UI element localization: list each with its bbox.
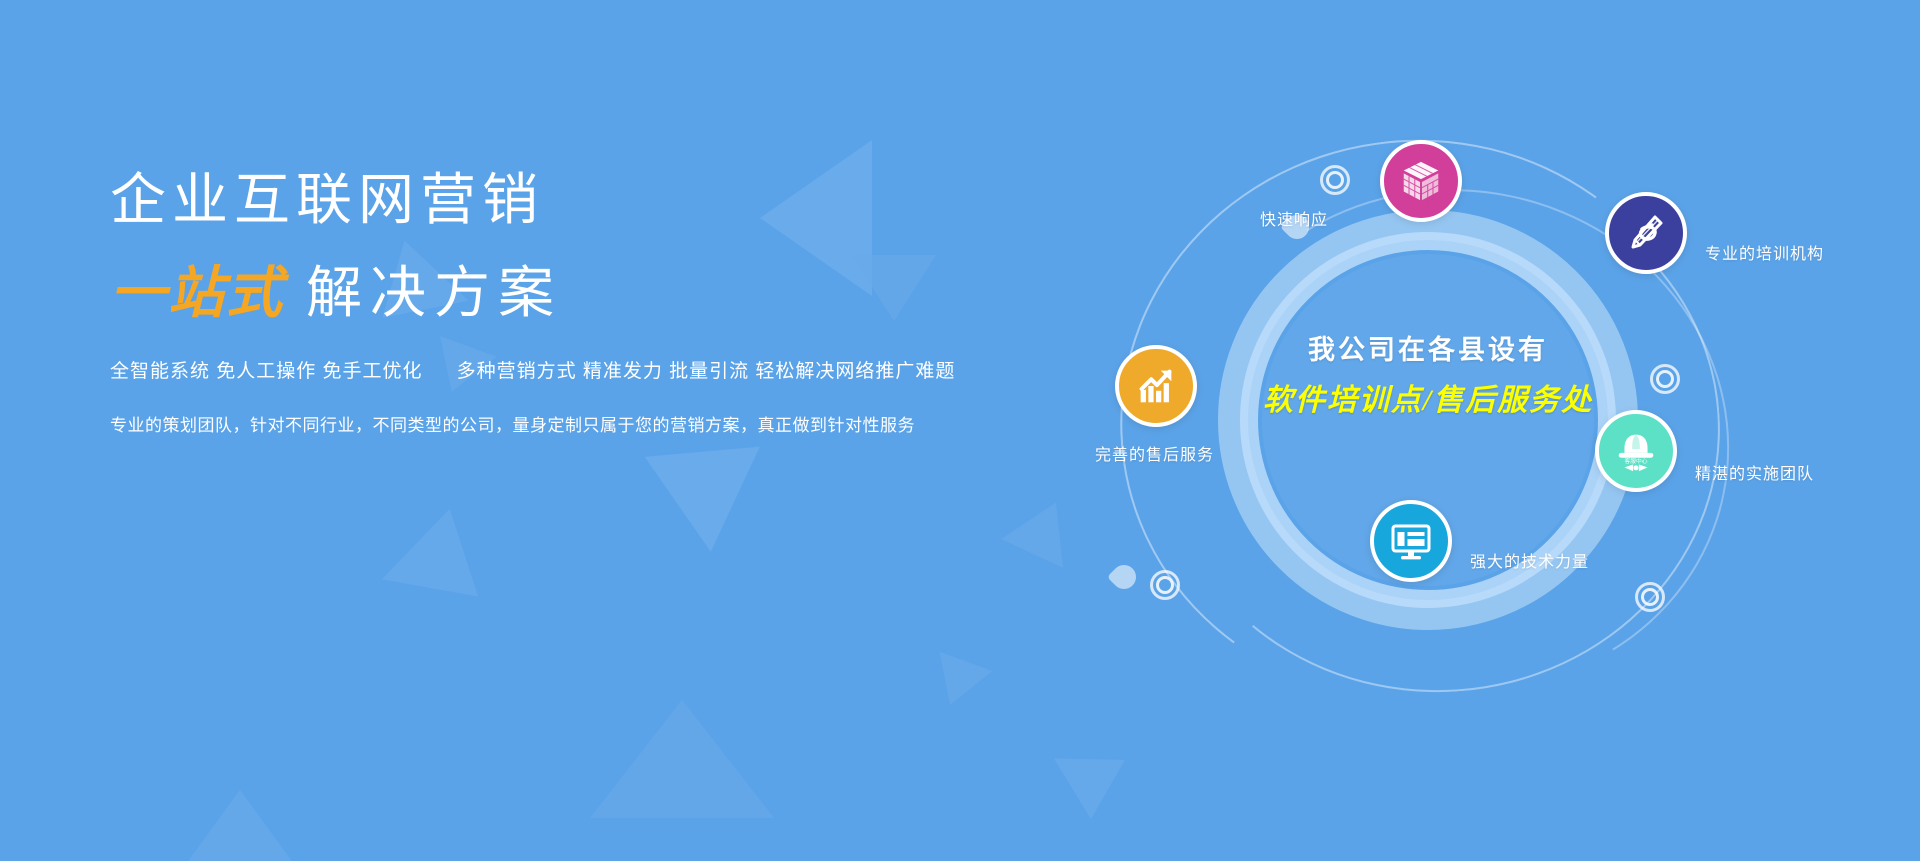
hat-icon-caption: 客服中心 (1625, 457, 1648, 465)
cube-icon (1380, 140, 1462, 222)
map-pin-icon (1107, 560, 1141, 594)
decorative-triangle (170, 790, 310, 861)
diagram-node-chart-label: 完善的售后服务 (1095, 441, 1214, 465)
target-ripple-icon (1150, 570, 1180, 600)
diagram-node-hat-label: 精湛的实施团队 (1695, 460, 1814, 484)
target-ripple-icon (1320, 165, 1350, 195)
headline-secondary: 一站式解决方案 (110, 259, 890, 326)
subtitle-line-two: 专业的策划团队，针对不同行业，不同类型的公司，量身定制只属于您的营销方案，真正做… (110, 411, 890, 436)
decorative-triangle (368, 509, 478, 623)
decorative-triangle (924, 652, 992, 714)
target-ripple-icon (1650, 364, 1680, 394)
hat-icon: 客服中心 (1595, 410, 1677, 492)
circle-center-text: 我公司在各县设有 软件培训点/售后服务处 (1262, 328, 1594, 419)
headline-accent-text: 一站式 (110, 261, 284, 324)
monitor-icon (1370, 500, 1452, 582)
service-circle-diagram: 我公司在各县设有 软件培训点/售后服务处 (1040, 110, 1900, 750)
headline-primary: 企业互联网营销 (110, 165, 890, 235)
decorative-triangle (590, 700, 774, 818)
marketing-banner: 企业互联网营销 一站式解决方案 全智能系统 免人工操作 免手工优化多种营销方式 … (0, 0, 1920, 861)
pen-icon (1605, 192, 1687, 274)
headline-block: 企业互联网营销 一站式解决方案 全智能系统 免人工操作 免手工优化多种营销方式 … (110, 165, 890, 436)
subtitle-features-right: 多种营销方式 精准发力 批量引流 轻松解决网络推广难题 (457, 361, 956, 382)
growth-chart-icon (1115, 345, 1197, 427)
center-text-line-two: 软件培训点/售后服务处 (1262, 375, 1594, 419)
target-ripple-icon (1635, 582, 1665, 612)
subtitle-features-left: 全智能系统 免人工操作 免手工优化 (110, 361, 423, 382)
subtitle-line-one: 全智能系统 免人工操作 免手工优化多种营销方式 精准发力 批量引流 轻松解决网络… (110, 356, 890, 383)
headline-plain-text: 解决方案 (306, 261, 562, 324)
center-text-line-one: 我公司在各县设有 (1262, 328, 1594, 367)
diagram-node-cube-label: 快速响应 (1260, 206, 1328, 230)
diagram-node-monitor-label: 强大的技术力量 (1470, 548, 1589, 572)
diagram-node-pen-label: 专业的培训机构 (1705, 240, 1824, 264)
